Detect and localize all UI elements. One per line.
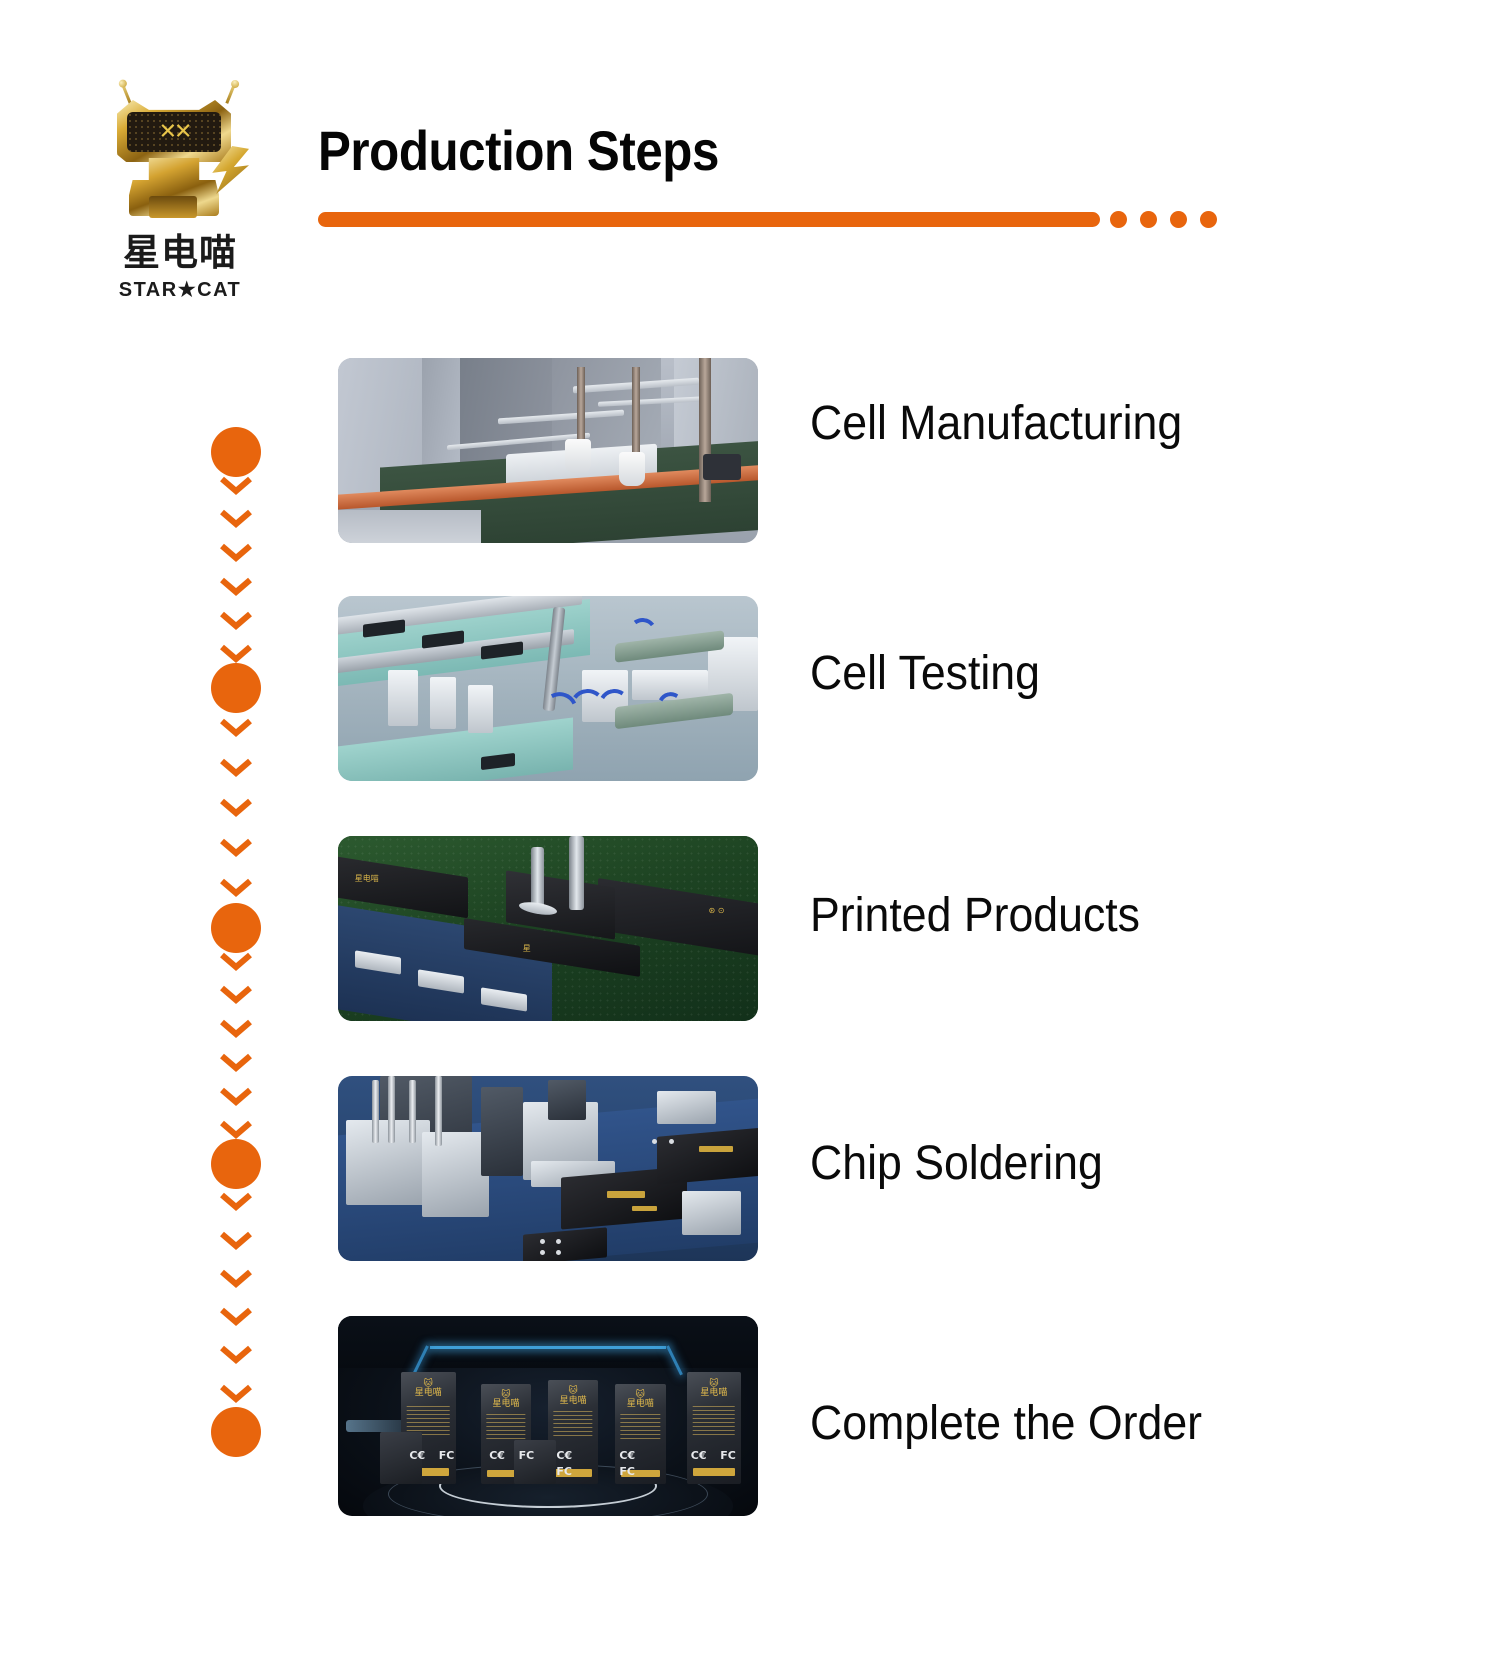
complete-order-photo-icon: 🐱星电喵 🐱星电喵 🐱星电喵 🐱星电喵 🐱星电喵 C€ FC C€ FC C€ … bbox=[338, 1316, 758, 1516]
chevron-down-icon bbox=[219, 798, 253, 818]
chevron-down-icon bbox=[219, 758, 253, 778]
chevron-down-icon bbox=[219, 838, 253, 858]
title-dot bbox=[1170, 211, 1187, 228]
cat-face-icon: ✕✕ bbox=[127, 112, 221, 152]
step-label: Chip Soldering bbox=[810, 1140, 1103, 1188]
chevron-down-icon bbox=[219, 985, 253, 1005]
cat-belly-icon bbox=[149, 196, 197, 218]
chevron-down-icon bbox=[219, 878, 253, 898]
brand-name-en: STAR★CAT bbox=[95, 277, 265, 302]
chevron-down-icon bbox=[219, 1307, 253, 1327]
chevron-down-icon bbox=[219, 1231, 253, 1251]
antenna-right-icon bbox=[225, 84, 235, 104]
chevron-down-icon bbox=[219, 1120, 253, 1140]
chevron-down-icon bbox=[219, 952, 253, 972]
chevron-down-icon bbox=[219, 1087, 253, 1107]
title-dot bbox=[1110, 211, 1127, 228]
chip-soldering-photo-icon bbox=[338, 1076, 758, 1261]
step-label: Complete the Order bbox=[810, 1400, 1202, 1448]
chevron-down-icon bbox=[219, 611, 253, 631]
printed-products-photo-icon: 星电喵 ⊛ ⊙ 星 bbox=[338, 836, 758, 1021]
antenna-left-icon bbox=[121, 84, 131, 104]
page-header: ✕✕ 星电喵 STAR★CAT Production Steps bbox=[0, 0, 1500, 330]
brand-name-cn: 星电喵 bbox=[95, 234, 265, 271]
title-underline-rule bbox=[318, 212, 1100, 227]
cat-eyes-icon: ✕✕ bbox=[159, 120, 190, 145]
chevron-down-icon bbox=[219, 577, 253, 597]
chevron-down-icon bbox=[219, 1053, 253, 1073]
timeline-node-5 bbox=[211, 1407, 261, 1457]
timeline-node-3 bbox=[211, 903, 261, 953]
chevron-down-icon bbox=[219, 1019, 253, 1039]
chevron-down-icon bbox=[219, 509, 253, 529]
timeline-node-1 bbox=[211, 427, 261, 477]
title-dots bbox=[1110, 211, 1217, 228]
title-dot bbox=[1200, 211, 1217, 228]
chevron-down-icon bbox=[219, 1345, 253, 1365]
title-dot bbox=[1140, 211, 1157, 228]
chevron-down-icon bbox=[219, 1384, 253, 1404]
cell-manufacturing-photo-icon bbox=[338, 358, 758, 543]
chevron-down-icon bbox=[219, 476, 253, 496]
step-label: Cell Testing bbox=[810, 650, 1040, 698]
chevron-down-icon bbox=[219, 718, 253, 738]
page-title: Production Steps bbox=[318, 118, 719, 183]
step-label: Cell Manufacturing bbox=[810, 400, 1182, 448]
chevron-down-icon bbox=[219, 644, 253, 664]
chevron-down-icon bbox=[219, 1269, 253, 1289]
cell-testing-photo-icon bbox=[338, 596, 758, 781]
star-cat-robot-logo-icon: ✕✕ bbox=[105, 78, 255, 228]
chevron-down-icon bbox=[219, 543, 253, 563]
brand-logo: ✕✕ 星电喵 STAR★CAT bbox=[95, 78, 265, 303]
timeline-node-4 bbox=[211, 1139, 261, 1189]
timeline-rail bbox=[196, 410, 276, 1490]
step-label: Printed Products bbox=[810, 892, 1140, 940]
chevron-down-icon bbox=[219, 1192, 253, 1212]
timeline-node-2 bbox=[211, 663, 261, 713]
